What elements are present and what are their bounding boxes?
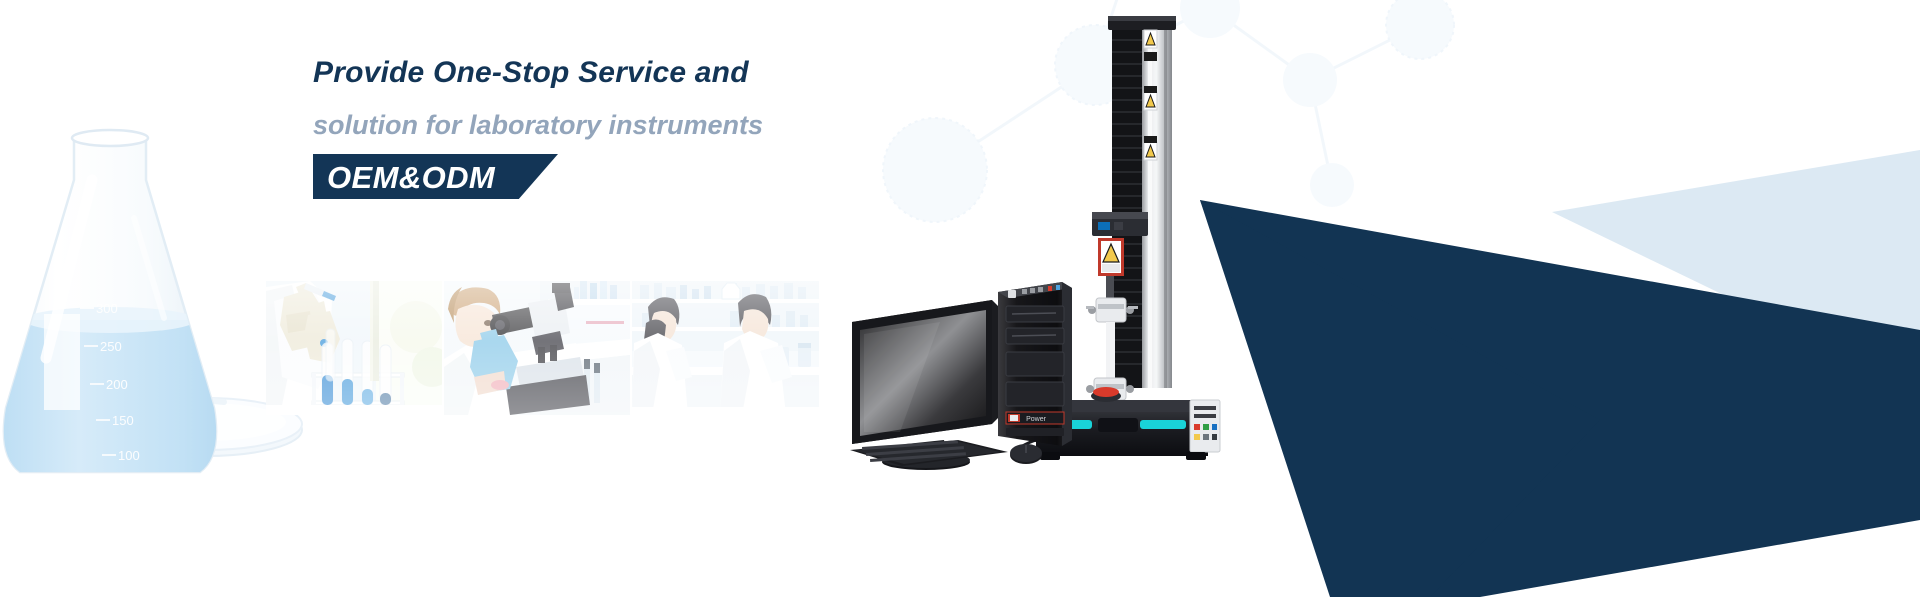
photo-lab-technicians-at-bench: [632, 281, 819, 415]
svg-text:250: 250: [100, 339, 122, 354]
headline-line-2: solution for laboratory instruments: [313, 108, 953, 142]
accent-light-left: [1046, 420, 1092, 429]
oem-odm-badge[interactable]: OEM&ODM: [313, 154, 558, 199]
flask-graduations: 300 250 200 150 100: [96, 301, 140, 463]
headline-line-1: Provide One-Stop Service and: [313, 55, 953, 91]
lab-photo-strip: [266, 281, 819, 415]
photo-scientist-at-microscope: [444, 281, 630, 415]
svg-text:100: 100: [118, 448, 140, 463]
desktop-computer: Power: [850, 282, 1072, 470]
svg-text:300: 300: [96, 301, 118, 316]
flask-body: 300 250 200 150 100: [0, 130, 248, 488]
promo-banner: 300 250 200 150 100 Provide One-Stop Ser…: [0, 0, 1920, 597]
headline-block: Provide One-Stop Service and solution fo…: [313, 55, 953, 199]
badge-label: OEM&ODM: [327, 157, 495, 199]
accent-light-right: [1140, 420, 1186, 429]
warning-labels: [1144, 30, 1157, 160]
dark-navy-arrow-tip: [1200, 200, 1600, 597]
svg-text:150: 150: [112, 413, 134, 428]
photo-gloved-hands-pipetting: [266, 281, 442, 415]
tensile-testing-machine: [1012, 16, 1220, 460]
dark-navy-arrow: [1200, 200, 1920, 597]
light-blue-triangle: [1552, 150, 1920, 390]
decorative-triangles: [1180, 0, 1920, 597]
svg-text:200: 200: [106, 377, 128, 392]
svg-text:Power: Power: [1026, 416, 1047, 423]
molecule-watermark: [880, 0, 1500, 270]
